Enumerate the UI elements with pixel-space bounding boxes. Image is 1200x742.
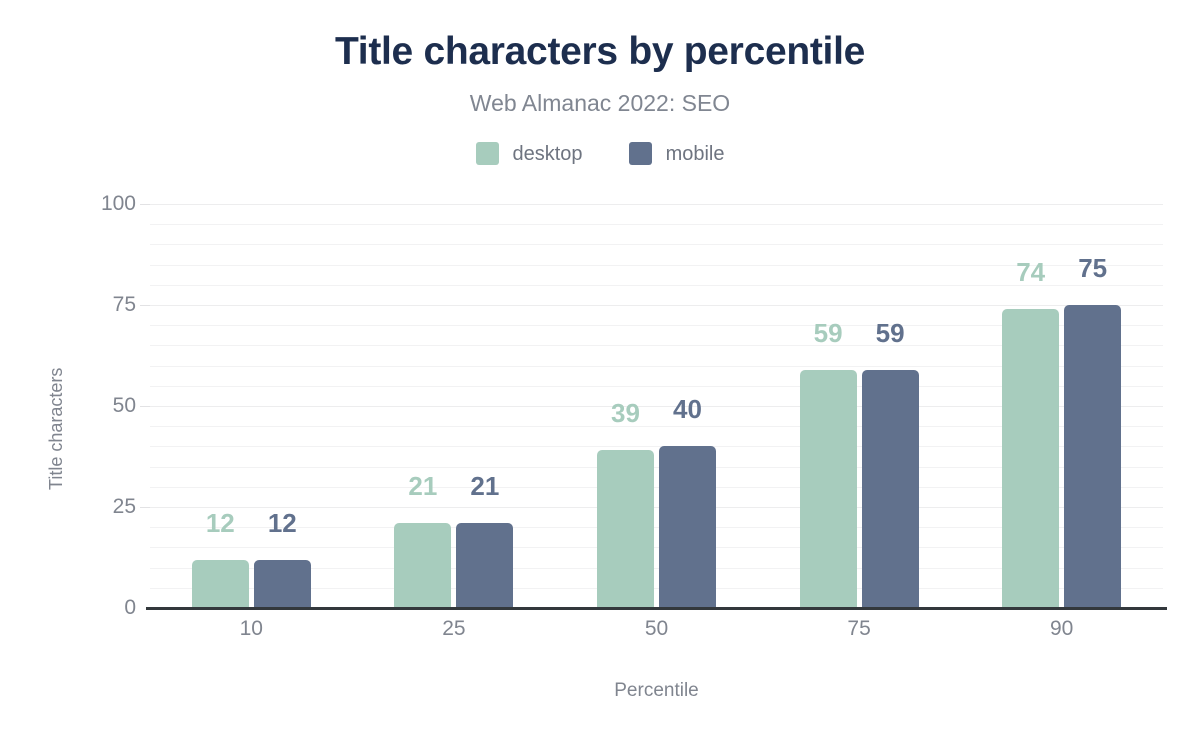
y-axis-tick-100: 100 [60, 193, 136, 214]
x-axis-tick-50: 50 [597, 618, 717, 639]
legend-swatch-desktop [476, 142, 499, 165]
bar-label-mobile-50: 40 [649, 396, 726, 422]
x-axis-title: Percentile [150, 680, 1163, 702]
chart-figure: Title characters by percentile Web Alman… [0, 0, 1200, 742]
bar-label-mobile-90: 75 [1054, 255, 1131, 281]
chart-subtitle: Web Almanac 2022: SEO [0, 90, 1200, 117]
legend-swatch-mobile [629, 142, 652, 165]
bar-desktop-90[interactable] [1002, 309, 1059, 608]
chart-legend: desktopmobile [0, 142, 1200, 165]
legend-item-desktop[interactable]: desktop [476, 142, 583, 165]
y-axis-tick-75: 75 [60, 294, 136, 315]
bar-label-mobile-25: 21 [446, 473, 523, 499]
x-axis-tick-25: 25 [394, 618, 514, 639]
y-axis-tick-mark [140, 204, 150, 205]
bar-label-mobile-75: 59 [852, 320, 929, 346]
legend-label-mobile: mobile [666, 144, 725, 164]
y-axis-tick-50: 50 [60, 395, 136, 416]
x-axis-tick-90: 90 [1002, 618, 1122, 639]
y-axis-tick-mark [140, 507, 150, 508]
bar-mobile-50[interactable] [659, 446, 716, 608]
bar-mobile-10[interactable] [254, 560, 311, 608]
x-axis-line [146, 607, 1167, 610]
x-axis-tick-10: 10 [191, 618, 311, 639]
bar-mobile-25[interactable] [456, 523, 513, 608]
bar-desktop-75[interactable] [800, 370, 857, 608]
y-axis-tick-mark [140, 406, 150, 407]
bar-mobile-90[interactable] [1064, 305, 1121, 608]
x-axis-tick-75: 75 [799, 618, 919, 639]
y-axis-title: Title characters [46, 190, 67, 490]
legend-item-mobile[interactable]: mobile [629, 142, 725, 165]
y-axis-tick-25: 25 [60, 496, 136, 517]
legend-label-desktop: desktop [513, 144, 583, 164]
y-axis-tick-mark [140, 305, 150, 306]
gridline [150, 224, 1163, 225]
y-axis-tick-0: 0 [60, 597, 136, 618]
bar-mobile-75[interactable] [862, 370, 919, 608]
gridline [150, 244, 1163, 245]
bar-label-mobile-10: 12 [244, 510, 321, 536]
chart-title: Title characters by percentile [0, 30, 1200, 75]
gridline [150, 204, 1163, 205]
bar-desktop-10[interactable] [192, 560, 249, 608]
gridline [150, 305, 1163, 306]
bar-desktop-50[interactable] [597, 450, 654, 608]
bar-desktop-25[interactable] [394, 523, 451, 608]
